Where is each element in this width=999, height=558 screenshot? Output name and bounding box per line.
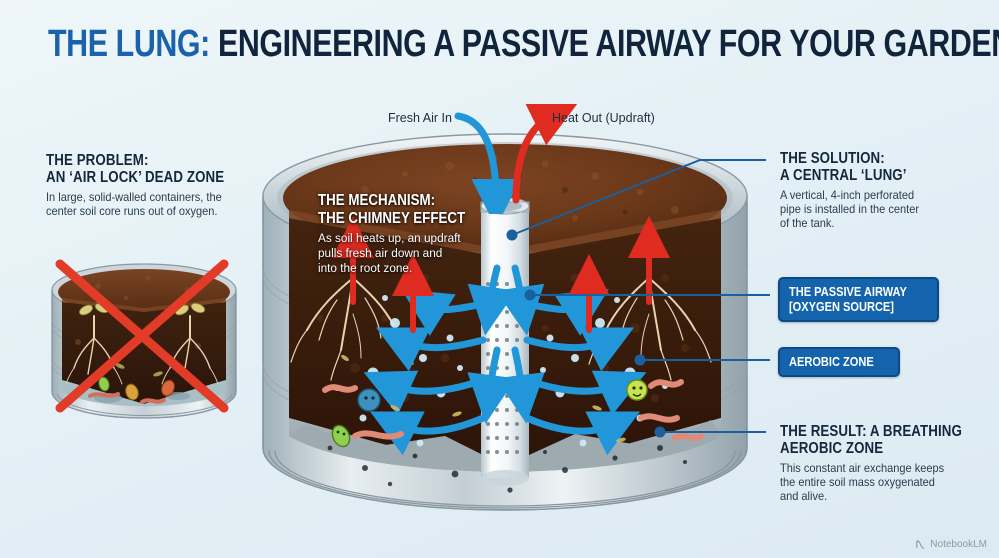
result-heading-line2: AEROBIC ZONE <box>780 440 965 457</box>
badge-aerobic-zone[interactable]: AEROBIC ZONE <box>778 347 900 377</box>
mechanism-block: THE MECHANISM: THE CHIMNEY EFFECT As soi… <box>318 192 518 276</box>
badge-passive-airway-line2: [OXYGEN SOURCE] <box>789 299 907 314</box>
result-body-line3: and alive. <box>780 490 984 504</box>
notebooklm-icon <box>915 539 926 550</box>
badge-passive-airway-line1: THE PASSIVE AIRWAY <box>789 284 907 299</box>
mechanism-body-line1: As soil heats up, an updraft <box>318 231 508 246</box>
result-heading-line1: THE RESULT: A BREATHING <box>780 423 965 440</box>
result-body-line2: the entire soil mass oxygenated <box>780 476 984 490</box>
solution-body-line2: pipe is installed in the center <box>780 203 984 217</box>
solution-body-line3: of the tank. <box>780 217 984 231</box>
result-block: THE RESULT: A BREATHING AEROBIC ZONE Thi… <box>780 423 995 505</box>
badge-passive-airway[interactable]: THE PASSIVE AIRWAY [OXYGEN SOURCE] <box>778 277 939 322</box>
problem-body-line2: center soil core runs out of oxygen. <box>46 205 265 219</box>
mechanism-heading-line2: THE CHIMNEY EFFECT <box>318 210 490 228</box>
mechanism-heading-line1: THE MECHANISM: <box>318 192 490 210</box>
result-body-line1: This constant air exchange keeps <box>780 462 984 476</box>
solution-body-line1: A vertical, 4-inch perforated <box>780 189 984 203</box>
solution-block: THE SOLUTION: A CENTRAL ‘LUNG’ A vertica… <box>780 150 995 232</box>
problem-heading-line1: THE PROBLEM: <box>46 152 244 169</box>
problem-body-line1: In large, solid-walled containers, the <box>46 191 265 205</box>
mechanism-body-line2: pulls fresh air down and <box>318 246 508 261</box>
watermark: NotebookLM <box>915 539 987 550</box>
watermark-label: NotebookLM <box>930 539 987 550</box>
badge-aerobic-zone-line1: AEROBIC ZONE <box>789 354 874 369</box>
mechanism-body-line3: into the root zone. <box>318 261 508 276</box>
infographic-canvas: THE LUNG: ENGINEERING A PASSIVE AIRWAY F… <box>0 0 999 558</box>
solution-heading-line1: THE SOLUTION: <box>780 150 965 167</box>
solution-heading-line2: A CENTRAL ‘LUNG’ <box>780 167 965 184</box>
problem-heading-line2: AN ‘AIR LOCK’ DEAD ZONE <box>46 169 244 186</box>
problem-block: THE PROBLEM: AN ‘AIR LOCK’ DEAD ZONE In … <box>46 152 276 219</box>
